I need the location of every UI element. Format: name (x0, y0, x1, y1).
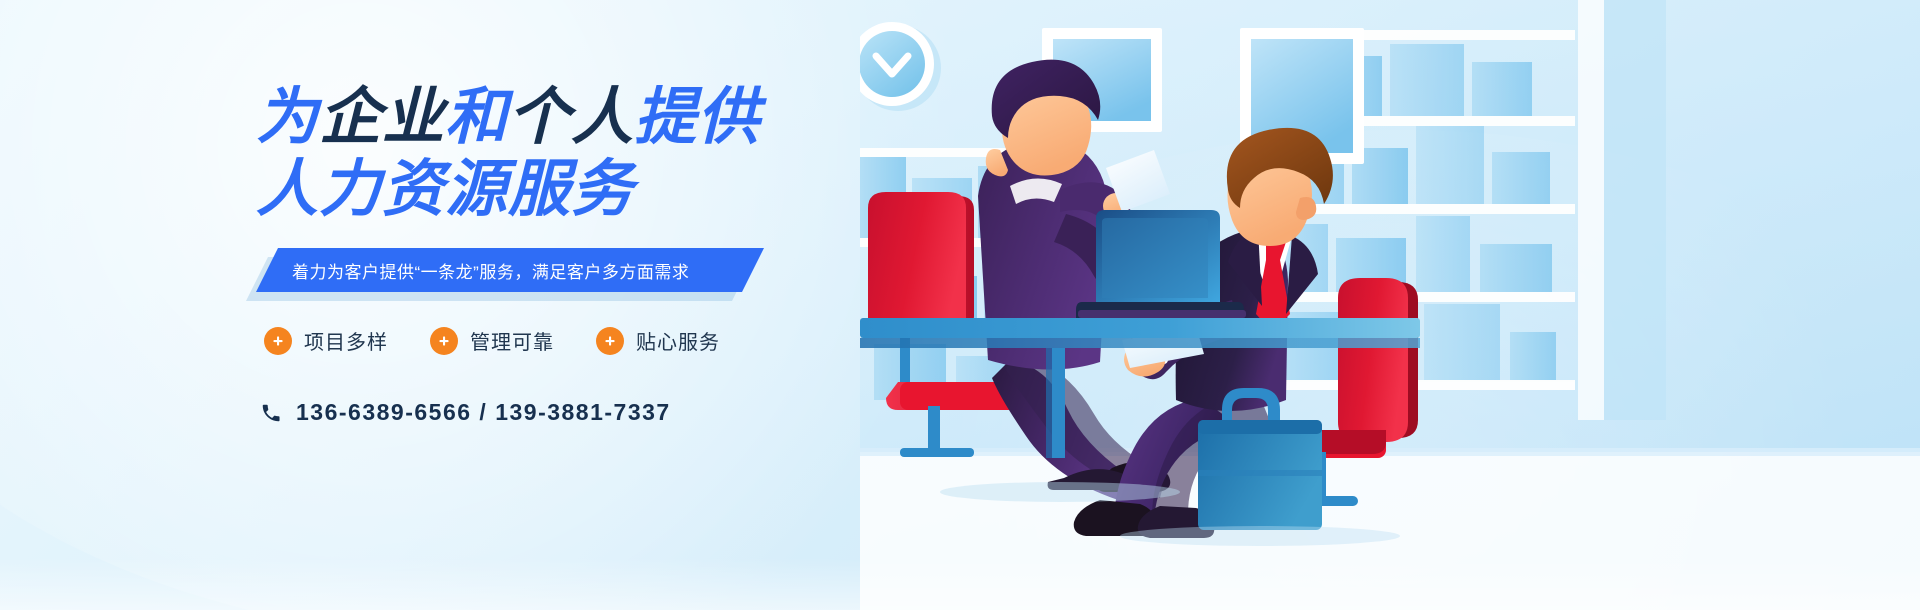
headline-seg-6: 人力资源服务 (256, 155, 634, 224)
page-title: 为企业和个人提供 人力资源服务 (256, 86, 1016, 222)
headline-seg-2: 企业 (319, 83, 445, 152)
headline-seg-4: 个人 (508, 83, 634, 152)
subtitle-ribbon-bar: 着力为客户提供“一条龙”服务，满足客户多方面需求 (256, 248, 764, 292)
banner-copy: 为企业和个人提供 人力资源服务 着力为客户提供“一条龙”服务，满足客户多方面需求 (256, 86, 1016, 426)
plus-icon (264, 327, 292, 355)
feature-label-2: 管理可靠 (470, 326, 554, 355)
subtitle-ribbon: 着力为客户提供“一条龙”服务，满足客户多方面需求 (256, 248, 764, 292)
subtitle-text: 着力为客户提供“一条龙”服务，满足客户多方面需求 (256, 258, 689, 283)
headline-seg-5: 提供 (634, 83, 760, 152)
feature-label-3: 贴心服务 (636, 326, 720, 355)
feature-list: 项目多样 管理可靠 贴心服务 (256, 326, 1016, 355)
phone-icon (260, 402, 282, 424)
feature-item-2[interactable]: 管理可靠 (430, 326, 554, 355)
feature-item-1[interactable]: 项目多样 (264, 326, 388, 355)
plus-icon (430, 327, 458, 355)
contact-row[interactable]: 136-6389-6566 / 139-3881-7337 (256, 399, 1016, 426)
phone-number: 136-6389-6566 / 139-3881-7337 (296, 399, 671, 426)
feature-label-1: 项目多样 (304, 326, 388, 355)
plus-icon (596, 327, 624, 355)
office-illustration (860, 0, 1920, 610)
hr-service-banner: 为企业和个人提供 人力资源服务 着力为客户提供“一条龙”服务，满足客户多方面需求 (0, 0, 1920, 610)
headline-seg-1: 为 (256, 83, 319, 152)
headline-seg-3: 和 (445, 83, 508, 152)
feature-item-3[interactable]: 贴心服务 (596, 326, 720, 355)
